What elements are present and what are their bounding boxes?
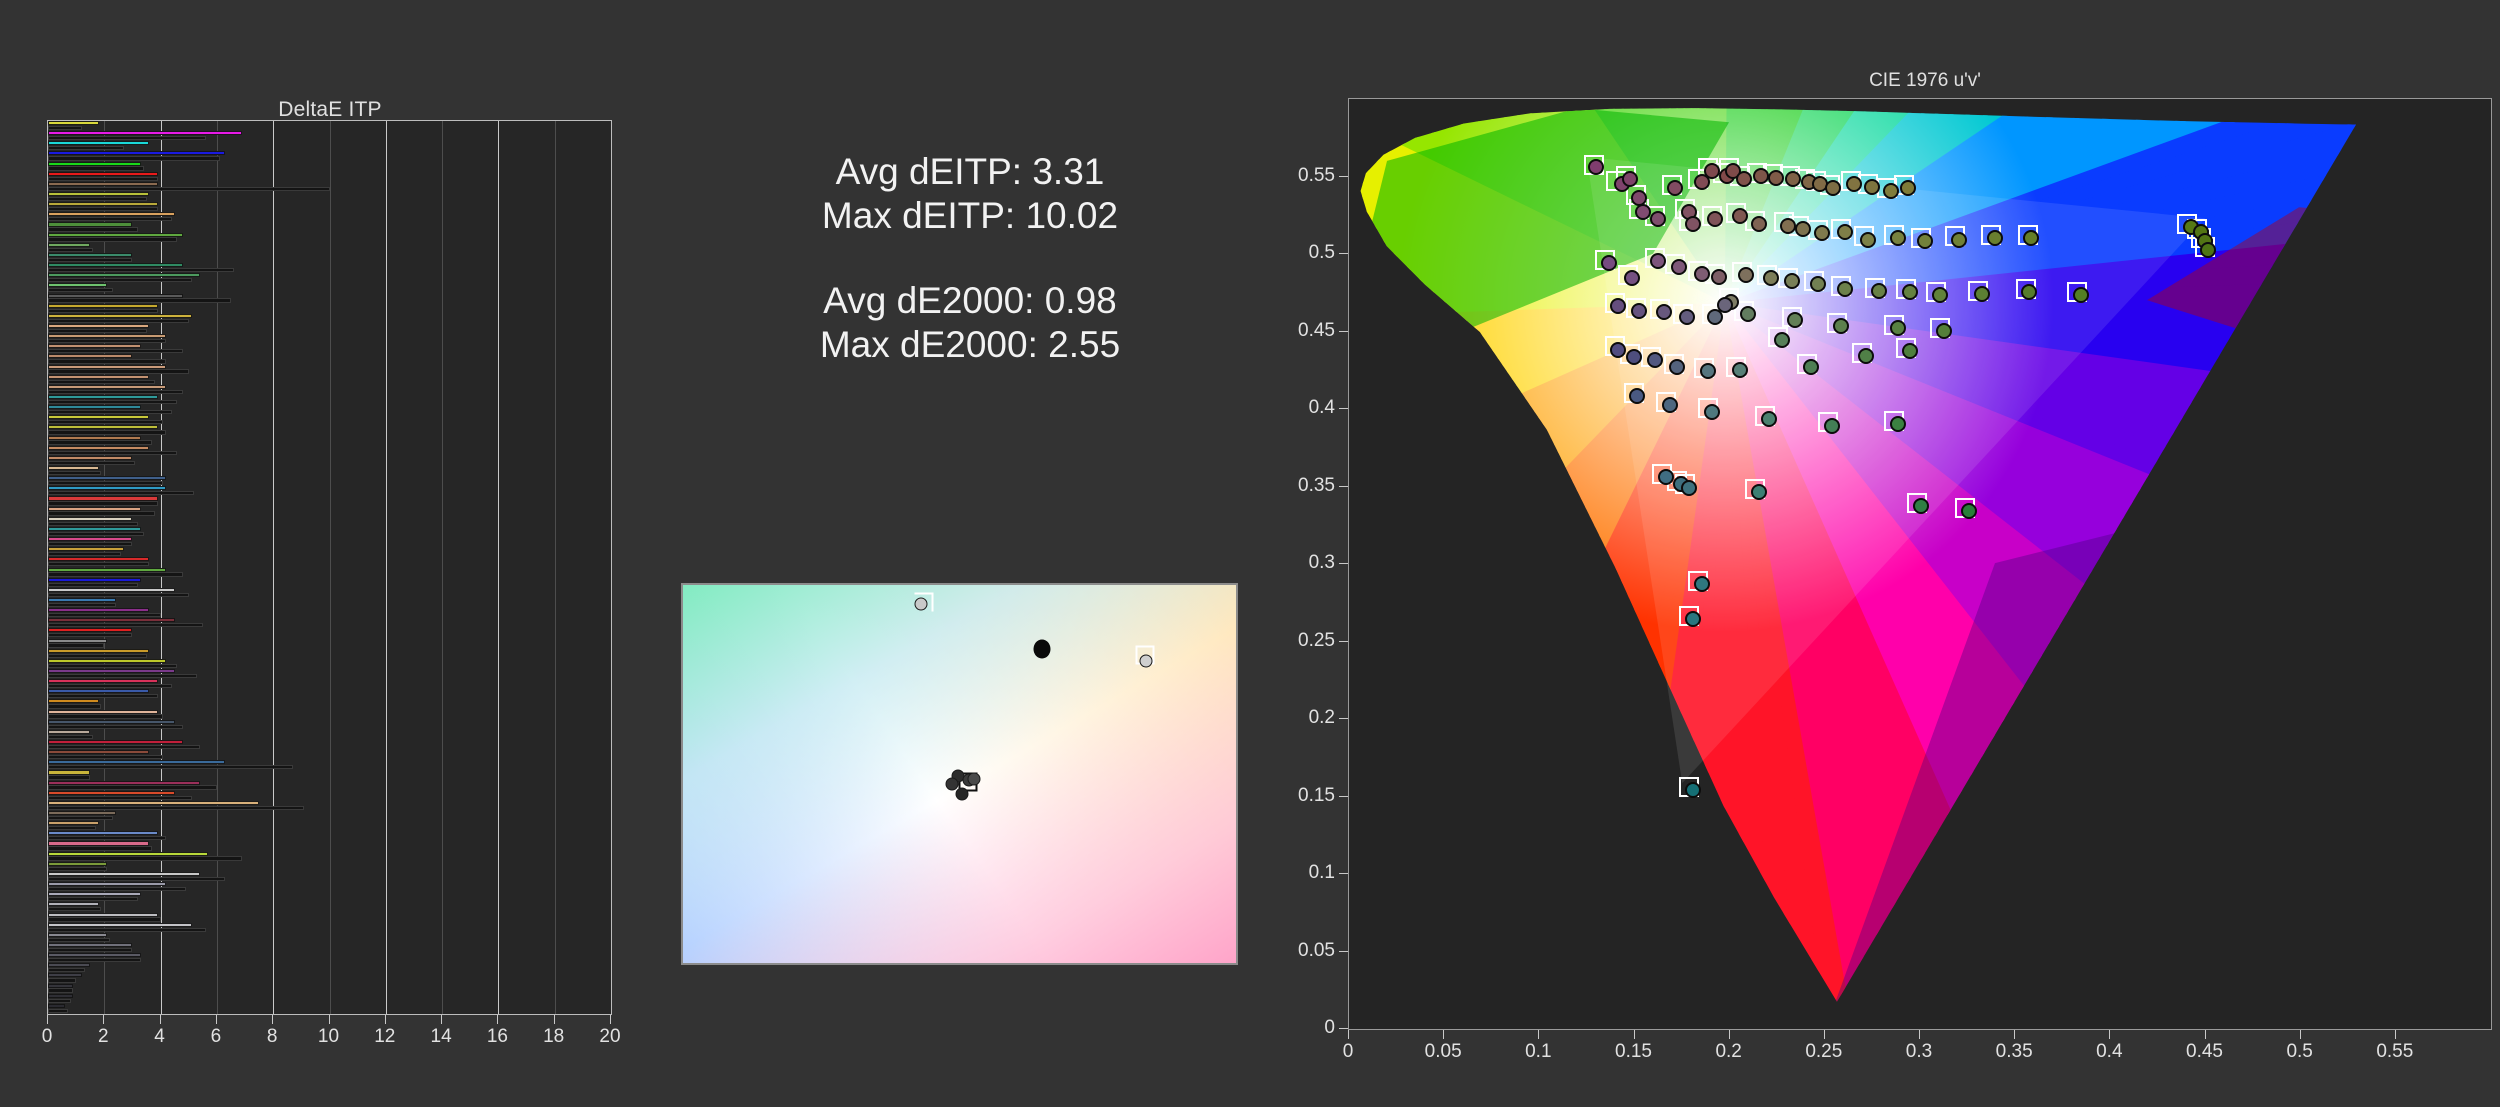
deitp-bar [48,775,90,779]
cie-measured-marker [1890,416,1906,432]
deitp-bar [48,217,172,221]
deltae-bar-row [48,740,611,750]
cie-measured-marker [1751,484,1767,500]
deltae-x-tick-label: 2 [98,1026,109,1048]
de2000-bar [48,375,149,379]
deltae-bar-row [48,476,611,486]
deitp-bar [48,593,189,597]
de2000-bar [48,639,107,643]
deltae-bar-row [48,354,611,364]
de2000-bar [48,994,73,998]
deitp-bar [48,897,138,901]
cie-x-tick-label: 0.55 [2376,1041,2413,1063]
cie-measured-marker [1736,171,1752,187]
cie-chart-title: CIE 1976 u'v' [1350,70,2500,92]
cie-x-tick [2014,1030,2015,1039]
deitp-bar [48,237,177,241]
deltae-bar-row [48,973,611,983]
de2000-bar [48,547,124,551]
de2000-bar [48,892,141,896]
deitp-bar [48,552,121,556]
de2000-bar [48,233,183,237]
deitp-bar [48,725,183,729]
cie-y-tick [1339,331,1348,332]
cie-x-tick [2300,1030,2301,1039]
cie-measured-marker [1803,359,1819,375]
de2000-bar [48,801,259,805]
deitp-bar [48,359,166,363]
deitp-bar [48,877,225,881]
cie-measured-marker [1785,171,1801,187]
deltae-x-tick [47,1015,48,1024]
deltae-bar-row [48,243,611,253]
cie-y-tick-label: 0.35 [1298,475,1335,497]
cie-measured-marker [1936,323,1952,339]
deltae-bar-row [48,618,611,628]
deltae-bar-row [48,568,611,578]
whitepoint-measured-marker [1140,654,1153,667]
de2000-bar [48,294,183,298]
cie-y-tick-label: 0.2 [1309,707,1335,729]
deltae-bar-row [48,486,611,496]
cie-y-tick [1339,873,1348,874]
deltae-chart-title: DeltaE ITP [0,98,660,122]
deitp-bar [48,258,132,262]
cie-y-tick [1339,951,1348,952]
de2000-bar [48,263,183,267]
de2000-bar [48,760,225,764]
cie-measured-marker [1667,180,1683,196]
deltae-bar-row [48,222,611,232]
avg-deitp-stat: Avg dEITP: 3.31 [680,150,1260,194]
deitp-bar [48,623,203,627]
deitp-bar [48,856,242,860]
deltae-bar-row [48,669,611,679]
deitp-bar [48,278,192,282]
de2000-bar [48,679,158,683]
deitp-bar [48,583,138,587]
deitp-bar [48,735,93,739]
de2000-bar [48,963,90,967]
deitp-bar [48,532,144,536]
deltae-x-tick-label: 14 [431,1026,452,1048]
deitp-bar [48,319,189,323]
cie-y-tick-label: 0.3 [1309,552,1335,574]
de2000-bar [48,344,141,348]
cie-measured-marker [1902,343,1918,359]
cie-measured-marker [1795,221,1811,237]
cie-measured-marker [1871,283,1887,299]
deltae-x-tick-label: 10 [318,1026,339,1048]
deltae-bar-row [48,141,611,151]
cie-y-tick [1339,408,1348,409]
deltae-bar-row [48,963,611,973]
deitp-bar [48,887,186,891]
deltae-bar-row [48,598,611,608]
de2000-bar [48,354,132,358]
deitp-bar [48,501,158,505]
deitp-bar [48,988,73,992]
cie-measured-marker [1932,287,1948,303]
de2000-bar [48,943,132,947]
deltae-bar-row [48,710,611,720]
deitp-bar [48,907,101,911]
cie-measured-marker [1681,480,1697,496]
cie-x-tick-label: 0.05 [1425,1041,1462,1063]
deitp-bar [48,481,163,485]
deitp-bar [48,633,132,637]
cie-measured-marker [1890,230,1906,246]
de2000-bar [48,1004,65,1008]
deltae-bar-row [48,253,611,263]
de2000-bar [48,395,158,399]
de2000-bar [48,486,166,490]
cie-y-tick [1339,718,1348,719]
cie-measured-marker [1635,204,1651,220]
deitp-bar [48,785,217,789]
de2000-bar [48,608,149,612]
deitp-bar [48,309,158,313]
cie-y-tick-label: 0.5 [1309,242,1335,264]
de2000-bar [48,852,208,856]
cie-y-tick [1339,176,1348,177]
whitepoint-zoom-panel[interactable] [681,583,1238,965]
deltae-x-tick-label: 12 [374,1026,395,1048]
deltae-bar-row [48,334,611,344]
deitp-bar [48,1009,68,1013]
deltae-bar-row [48,902,611,912]
deltae-x-tick-label: 18 [543,1026,564,1048]
deltae-bar-row [48,588,611,598]
deltae-bar-row [48,892,611,902]
deltae-bar-row [48,831,611,841]
cie-measured-marker [1763,270,1779,286]
cie-measured-marker [1732,362,1748,378]
cie-measured-marker [1858,348,1874,364]
deltae-bar-row [48,821,611,831]
de2000-bar [48,222,132,226]
deltae-bar-row [48,628,611,638]
de2000-bar [48,902,99,906]
cie-y-tick-label: 0.25 [1298,630,1335,652]
cie-y-tick-label: 0.15 [1298,785,1335,807]
de2000-bar [48,770,90,774]
deitp-bar [48,603,116,607]
deitp-bar [48,166,144,170]
deitp-bar [48,917,161,921]
cie-x-tick-label: 0.3 [1906,1041,1932,1063]
cie-measured-marker [1685,216,1701,232]
deltae-bar-row [48,385,611,395]
deltae-bar-row [48,720,611,730]
cie-measured-marker [1685,611,1701,627]
deitp-bar [48,643,104,647]
cie-measured-marker [1610,342,1626,358]
deitp-bar [48,390,183,394]
cie-measured-marker [1647,352,1663,368]
deitp-bar [48,461,135,465]
cie-measured-marker [1961,503,1977,519]
deltae-bar-row [48,547,611,557]
cie-y-tick-label: 0.05 [1298,940,1335,962]
cie-measured-marker [1669,359,1685,375]
deitp-bar [48,572,183,576]
deltae-bar-row [48,781,611,791]
deltae-bar-row [48,760,611,770]
cie-x-tick-label: 0.45 [2186,1041,2223,1063]
cie-plot-area[interactable] [1348,98,2492,1030]
deltae-bar-row [48,557,611,567]
de2000-bar [48,659,166,663]
deitp-bar [48,806,304,810]
deltae-bar-row [48,415,611,425]
deltae-bar-row [48,750,611,760]
cie-measured-marker [1738,267,1754,283]
cie-measured-marker [1601,255,1617,271]
de2000-bar [48,314,192,318]
deitp-bar [48,187,330,191]
deltae-x-tick [385,1015,386,1024]
deltae-bar-row [48,608,611,618]
deltae-bar-row [48,730,611,740]
cie-measured-marker [1987,230,2003,246]
cie-measured-marker [1679,309,1695,325]
deitp-bar [48,846,152,850]
de2000-bar [48,953,141,957]
cie-x-tick-label: 0.2 [1715,1041,1741,1063]
de2000-bar [48,162,141,166]
cie-x-axis: 00.050.10.150.20.250.30.350.40.450.50.55 [1348,1030,2492,1076]
cie-y-tick-label: 0.45 [1298,320,1335,342]
deitp-bar [48,288,113,292]
cie-measured-marker [1707,211,1723,227]
cie-measured-marker [1753,168,1769,184]
deitp-bar [48,126,82,130]
cie-measured-marker [1622,171,1638,187]
de2000-bar [48,882,166,886]
deitp-bar [48,938,110,942]
deitp-bar [48,329,147,333]
cie-measured-marker [1711,269,1727,285]
deitp-bar [48,958,141,962]
deitp-bar [48,978,76,982]
cie-y-tick-label: 0.55 [1298,165,1335,187]
cie-x-tick [2205,1030,2206,1039]
deltae-bar-row [48,770,611,780]
deltae-gridline [611,121,612,1014]
deltae-x-tick [554,1015,555,1024]
deltae-bar-row [48,294,611,304]
cie-measured-marker [1751,216,1767,232]
deitp-bar [48,765,293,769]
cie-measured-marker [1717,297,1733,313]
cie-measured-marker [1810,276,1826,292]
de2000-bar [48,456,132,460]
deltae-bar-row [48,365,611,375]
deltae-bar-row [48,882,611,892]
cie-measured-marker [1761,411,1777,427]
cie-x-tick-label: 0.1 [1525,1041,1551,1063]
deltae-bar-row [48,263,611,273]
de2000-bar [48,720,175,724]
deltae-bar-row [48,344,611,354]
cie-measured-marker [1837,281,1853,297]
deltae-x-tick [216,1015,217,1024]
de2000-bar [48,151,225,155]
deltae-bar-row [48,801,611,811]
deitp-bar [48,745,200,749]
deltae-bar-row [48,689,611,699]
de2000-bar [48,466,99,470]
max-deitp-stat: Max dEITP: 10.02 [680,194,1260,238]
de2000-bar [48,831,158,835]
cie-measured-marker [1631,303,1647,319]
deltae-bar-row [48,841,611,851]
de2000-bar [48,984,73,988]
de2000-bar [48,699,99,703]
deltae-bar-row [48,466,611,476]
de2000-bar [48,365,166,369]
deltae-bar-row [48,395,611,405]
de2000-bar [48,202,158,206]
deitp-bar [48,207,158,211]
deltae-bar-row [48,862,611,872]
de2000-bar [48,862,107,866]
deitp-bar [48,511,155,515]
deitp-bar [48,410,172,414]
cie-measured-marker [2200,242,2216,258]
de2000-bar [48,425,158,429]
cie-measured-marker [1650,253,1666,269]
deltae-x-axis: 02468101214161820 [47,1015,612,1065]
cie-y-tick [1339,486,1348,487]
de2000-bar [48,872,200,876]
de2000-bar [48,496,158,500]
deltae-bar-row [48,994,611,1004]
deitp-bar [48,430,166,434]
de2000-bar [48,172,158,176]
cie-y-tick [1339,796,1348,797]
deitp-bar [48,948,132,952]
deltae-bar-row [48,923,611,933]
deltae-x-tick [272,1015,273,1024]
deltae-bar-row [48,283,611,293]
deitp-bar [48,268,234,272]
deitp-bar [48,400,177,404]
cie-x-tick [2395,1030,2396,1039]
de2000-bar [48,649,149,653]
deltae-bar-row [48,304,611,314]
de2000-bar [48,923,192,927]
deltae-bar-row [48,456,611,466]
cie-measured-marker [1650,211,1666,227]
deltae-bar-row [48,679,611,689]
whitepoint-measured-marker [914,597,927,610]
de2000-bar [48,131,242,135]
deitp-bar [48,796,192,800]
deitp-bar [48,816,113,820]
deltae-bar-row [48,507,611,517]
whitepoint-measured-marker [968,772,981,785]
deltae-bar-row [48,639,611,649]
de2000-bar [48,821,99,825]
deitp-bar [48,613,161,617]
de2000-bar [48,618,175,622]
deitp-bar [48,826,96,830]
cie-measured-marker [1610,298,1626,314]
cie-x-tick [1634,1030,1635,1039]
de2000-bar [48,517,132,521]
de2000-bar [48,304,158,308]
cie-x-tick [1729,1030,1730,1039]
deltae-bar-row [48,436,611,446]
max-de2000-stat: Max dE2000: 2.55 [680,323,1260,367]
deitp-bar [48,197,147,201]
deltae-bar-row [48,943,611,953]
deltae-bar-row [48,151,611,161]
deitp-bar [48,339,166,343]
cie-measured-marker [2073,287,2089,303]
cie-measured-marker [1814,225,1830,241]
cie-measured-marker [1629,388,1645,404]
cie-x-tick [1919,1030,1920,1039]
deltae-bar-row [48,324,611,334]
deltae-bar-row [48,659,611,669]
de2000-bar [48,598,116,602]
cie-measured-marker [1837,224,1853,240]
de2000-bar [48,588,175,592]
deltae-bar-row [48,649,611,659]
de2000-bar [48,446,149,450]
de2000-bar [48,436,141,440]
deltae-bar-row [48,699,611,709]
deltae-bar-row [48,811,611,821]
de2000-bar [48,933,107,937]
deltae-bar-row [48,578,611,588]
de2000-bar [48,415,149,419]
deitp-bar [48,704,101,708]
deltae-bar-row [48,375,611,385]
de2000-bar [48,568,166,572]
cie-measured-marker [2021,284,2037,300]
de2000-bar [48,141,149,145]
de2000-bar [48,121,99,125]
deltae-bar-row [48,953,611,963]
deitp-bar [48,420,163,424]
cie-measured-marker [1951,232,1967,248]
deitp-bar [48,542,132,546]
cie-x-tick [2109,1030,2110,1039]
deltae-x-tick [610,1015,611,1024]
de2000-bar [48,791,175,795]
cie-y-axis: 00.050.10.150.20.250.30.350.40.450.50.55 [1290,98,1348,1030]
deltae-bar-row [48,446,611,456]
cie-x-tick [1443,1030,1444,1039]
deltae-bar-row [48,131,611,141]
de2000-bar [48,405,141,409]
deltae-bar-row [48,913,611,923]
de2000-bar [48,689,149,693]
de2000-bar [48,710,158,714]
deltae-bar-row [48,273,611,283]
deitp-bar [48,380,155,384]
summary-statistics: Avg dEITP: 3.31 Max dEITP: 10.02 Avg dE2… [680,150,1260,367]
cie-measured-marker [1780,218,1796,234]
de2000-bar [48,527,141,531]
de2000-bar [48,212,175,216]
deitp-bar [48,369,189,373]
deltae-bar-row [48,791,611,801]
